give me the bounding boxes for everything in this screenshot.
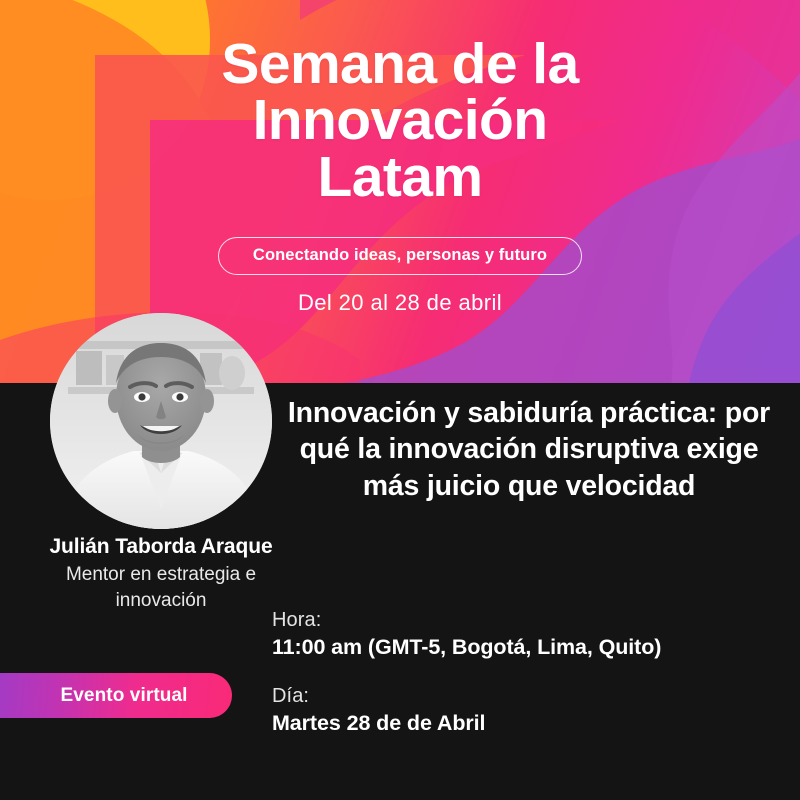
event-poster: Semana de la Innovación Latam Conectando…: [0, 0, 800, 800]
session-title-container: Innovación y sabiduría práctica: por qué…: [272, 395, 786, 504]
status-badge-label: Evento virtual: [44, 685, 187, 707]
detail-label-hora: Hora:: [272, 608, 782, 633]
title-line-2: Innovación: [0, 92, 800, 148]
speaker-info: Julián Taborda Araque Mentor en estrateg…: [0, 535, 322, 612]
poster-title: Semana de la Innovación Latam: [0, 36, 800, 205]
detail-value-dia: Martes 28 de de Abril: [272, 710, 782, 738]
speaker-name: Julián Taborda Araque: [0, 535, 322, 560]
title-line-3: Latam: [0, 149, 800, 205]
event-details: Hora: 11:00 am (GMT-5, Bogotá, Lima, Qui…: [272, 608, 782, 738]
detail-value-hora: 11:00 am (GMT-5, Bogotá, Lima, Quito): [272, 634, 782, 662]
title-line-1: Semana de la: [0, 36, 800, 92]
tagline-container: Conectando ideas, personas y futuro: [0, 237, 800, 275]
session-title: Innovación y sabiduría práctica: por qué…: [272, 395, 786, 504]
detail-label-dia: Día:: [272, 684, 782, 709]
tagline-pill: Conectando ideas, personas y futuro: [218, 237, 582, 275]
date-range-text: Del 20 al 28 de abril: [298, 290, 502, 315]
speaker-role-line-1: Mentor en estrategia e: [0, 563, 322, 586]
speaker-portrait-icon: [50, 313, 272, 529]
detail-group-dia: Día: Martes 28 de de Abril: [272, 684, 782, 738]
avatar: [50, 313, 272, 529]
detail-group-hora: Hora: 11:00 am (GMT-5, Bogotá, Lima, Qui…: [272, 608, 782, 662]
status-badge: Evento virtual: [0, 673, 232, 718]
date-range-container: Del 20 al 28 de abril: [0, 290, 800, 316]
